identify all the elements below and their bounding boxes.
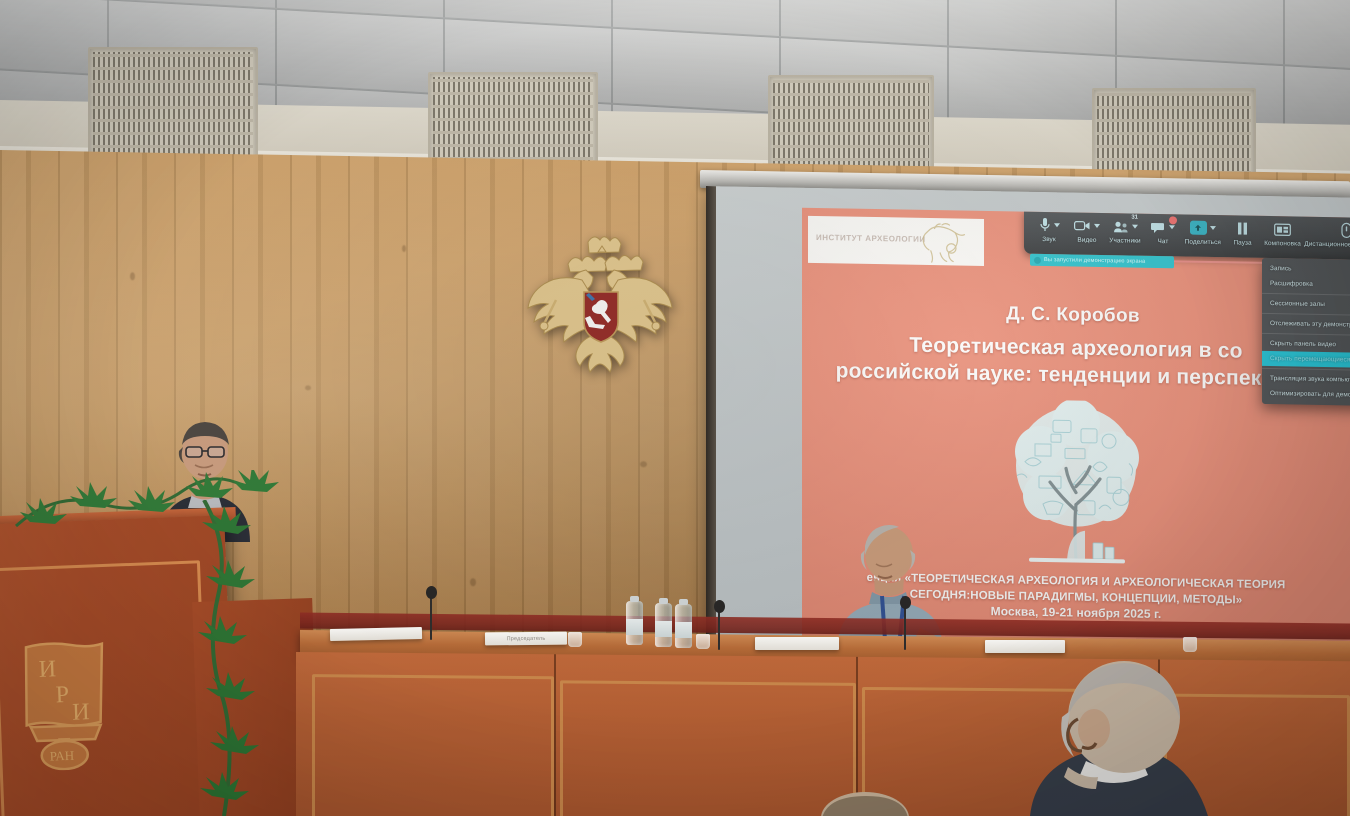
ventilation-grille [88,47,258,163]
zoom-remote-control-button[interactable]: Дистанционное управление [1303,219,1350,250]
water-bottle [655,603,672,647]
table-microphone [898,596,914,648]
name-placard-text [330,633,422,635]
zoom-remote-control-label: Дистанционное управление [1304,241,1350,250]
scythian-animal-icon [914,221,970,264]
menu-item-breakout-rooms[interactable]: Сессионные залы [1262,296,1350,315]
podium-emblem-ran: РАН [50,748,75,764]
zoom-audio-label: Звук [1042,236,1056,243]
zoom-share-button[interactable]: Поделиться [1182,216,1224,246]
tree-illustration [981,399,1171,570]
podium-emblem-letter-3: И [72,699,90,726]
name-placard [330,627,422,641]
institute-logo-text: ИНСТИТУТ АРХЕОЛОГИИ [816,233,926,244]
table-microphone [424,586,440,638]
menu-item-optimize-for-video[interactable]: Оптимизировать для демонстрации видео [1262,386,1350,405]
zoom-video-label: Видео [1077,237,1096,244]
audience-member-foreground [1020,655,1350,816]
participants-count-badge: 31 [1131,215,1138,221]
screen-share-notification-text: Вы запустили демонстрацию экрана [1044,257,1145,265]
zoom-chat-button[interactable]: Чат [1144,216,1182,246]
zoom-layout-label: Компоновка [1264,240,1301,248]
zoom-chat-label: Чат [1158,238,1169,245]
camera-icon [1074,217,1100,235]
table-microphone [712,600,728,648]
zoom-more-menu[interactable]: Запись Расшифровка Сессионные залы Отсле… [1262,258,1350,408]
fir-garland-side [178,500,288,816]
water-bottle [626,601,643,645]
layout-icon [1274,220,1291,238]
chat-alert-badge [1169,216,1177,224]
audience-member-head [800,790,930,816]
drinking-cup [1183,637,1197,652]
microphone-icon [1039,216,1060,234]
zoom-video-button[interactable]: Видео [1068,214,1106,244]
chevron-down-icon[interactable] [1132,225,1138,229]
zoom-participants-label: Участники [1109,237,1140,245]
podium-emblem-letter-1: И [38,656,56,683]
name-placard-text: Председатель [485,635,567,642]
menu-item-track-share[interactable]: Отслеживать эту демонстрацию экрана [1262,316,1350,335]
check-icon [1034,256,1041,263]
pause-icon [1236,219,1249,237]
chevron-down-icon[interactable] [1210,226,1216,230]
zoom-audio-button[interactable]: Звук [1030,214,1068,244]
conference-photo: ИНСТИТУТ АРХЕОЛОГИИ Д. С. Кор [0,0,1350,816]
zoom-participants-button[interactable]: 31 Участники [1106,215,1144,245]
remote-control-icon [1341,221,1350,239]
chevron-down-icon[interactable] [1054,223,1060,227]
screen-share-notification: Вы запустили демонстрацию экрана [1030,254,1174,269]
menu-item-transcription[interactable]: Расшифровка [1262,276,1350,295]
zoom-share-label: Поделиться [1185,239,1221,247]
russian-coat-of-arms-emblem [520,230,680,380]
name-placard [985,640,1065,653]
water-bottle [675,604,692,648]
chevron-down-icon[interactable] [1094,224,1100,228]
projection-screen: ИНСТИТУТ АРХЕОЛОГИИ Д. С. Кор [706,186,1350,667]
zoom-pause-button[interactable]: Пауза [1224,217,1262,247]
menu-item-hide-floating-controls[interactable]: Скрыть перемещающиеся элементы управлени… [1262,351,1350,370]
podium-emblem-letter-2: Р [55,682,69,708]
name-placard: Председатель [485,632,567,646]
chevron-down-icon[interactable] [1169,225,1175,229]
institute-logo-banner: ИНСТИТУТ АРХЕОЛОГИИ [808,216,984,266]
zoom-layout-button[interactable]: Компоновка [1262,218,1304,248]
name-placard [755,637,839,650]
podium-emblem-iri-ran: И Р И РАН [18,638,114,771]
drinking-cup [696,634,710,649]
drinking-cup [568,632,582,647]
zoom-pause-label: Пауза [1233,239,1251,246]
share-screen-icon [1190,219,1216,237]
